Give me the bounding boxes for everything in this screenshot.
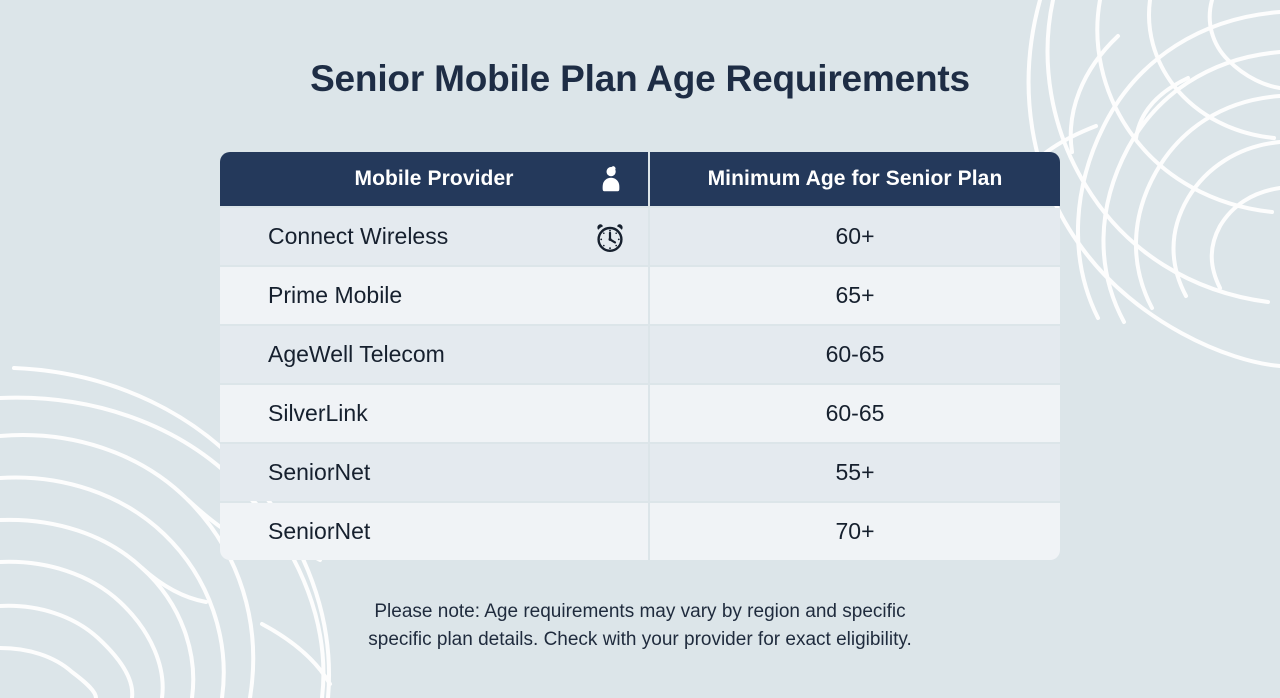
header-value-label: Minimum Age for Senior Plan: [708, 167, 1003, 191]
header-provider-label: Mobile Provider: [354, 167, 513, 191]
cell-min-age: 60+: [650, 208, 1060, 265]
provider-name: SeniorNet: [268, 518, 370, 545]
cell-provider: Connect Wireless: [220, 208, 648, 265]
cell-min-age: 60-65: [650, 326, 1060, 383]
header-cell-min-age: Minimum Age for Senior Plan: [650, 152, 1060, 206]
min-age-value: 65+: [835, 282, 874, 309]
provider-name: SilverLink: [268, 400, 368, 427]
cell-min-age: 70+: [650, 503, 1060, 560]
infographic-page: Senior Mobile Plan Age Requirements Mobi…: [0, 0, 1280, 698]
provider-name: AgeWell Telecom: [268, 341, 445, 368]
min-age-value: 60-65: [826, 400, 885, 427]
min-age-value: 70+: [835, 518, 874, 545]
footnote: Please note: Age requirements may vary b…: [0, 598, 1280, 654]
footnote-line-1: Please note: Age requirements may vary b…: [0, 598, 1280, 626]
footnote-line-2: specific plan details. Check with your p…: [0, 626, 1280, 654]
senior-person-icon: [596, 164, 626, 194]
cell-provider: AgeWell Telecom: [220, 326, 648, 383]
table-row: Prime Mobile 65+: [220, 267, 1060, 324]
cell-min-age: 55+: [650, 444, 1060, 501]
cell-provider: SeniorNet: [220, 444, 648, 501]
table-row: Connect Wireless: [220, 208, 1060, 265]
table-header-row: Mobile Provider Minimum Age for Senior P…: [220, 152, 1060, 206]
min-age-value: 60+: [835, 223, 874, 250]
table-row: SilverLink 60-65: [220, 385, 1060, 442]
cell-provider: SeniorNet: [220, 503, 648, 560]
provider-name: SeniorNet: [268, 459, 370, 486]
table-row: AgeWell Telecom 60-65: [220, 326, 1060, 383]
cell-min-age: 60-65: [650, 385, 1060, 442]
min-age-value: 60-65: [826, 341, 885, 368]
table-row: SeniorNet 70+: [220, 503, 1060, 560]
cell-provider: Prime Mobile: [220, 267, 648, 324]
header-cell-provider: Mobile Provider: [220, 152, 648, 206]
cell-min-age: 65+: [650, 267, 1060, 324]
min-age-value: 55+: [835, 459, 874, 486]
age-requirements-table: Mobile Provider Minimum Age for Senior P…: [220, 152, 1060, 560]
provider-name: Prime Mobile: [268, 282, 402, 309]
page-title: Senior Mobile Plan Age Requirements: [0, 58, 1280, 100]
cell-provider: SilverLink: [220, 385, 648, 442]
provider-name: Connect Wireless: [268, 223, 448, 250]
alarm-clock-icon: [594, 221, 626, 253]
table-row: SeniorNet 55+: [220, 444, 1060, 501]
